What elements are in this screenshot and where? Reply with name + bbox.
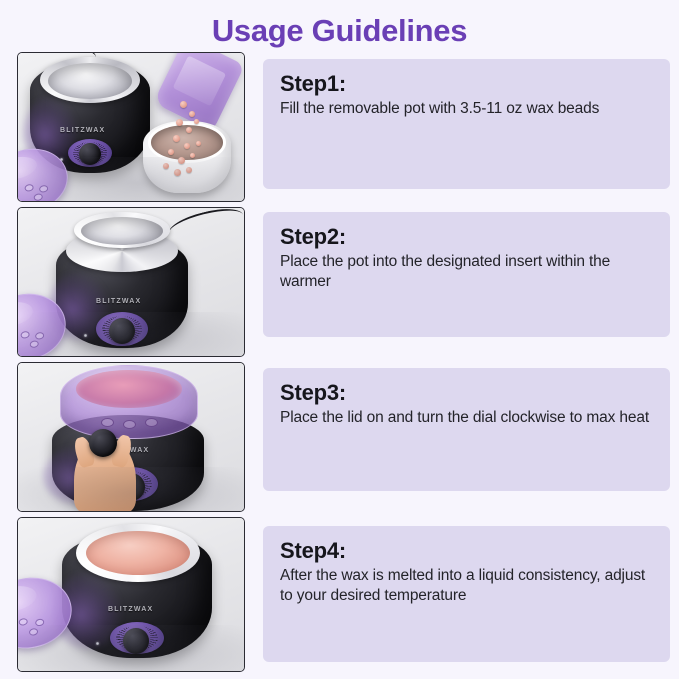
lid-vent-hole [29,340,39,349]
stainless-pot-inner [48,63,132,99]
photo-scene: BLITZWAX [18,208,244,356]
step-photo-1: BLITZWAX [17,52,245,202]
warmer-lid-closed [60,365,198,439]
temperature-dial-knob[interactable] [79,143,101,165]
wax-through-lid [76,370,182,407]
photo-scene: BLITZWAX [18,518,244,671]
step-row-3: BLITZWAX Step3: Plac [0,362,679,517]
step-title-4: Step4: [280,536,654,565]
wax-bead [163,163,169,169]
wax-bead [184,143,190,149]
step-description-2: Place the pot into the designated insert… [280,252,654,292]
power-indicator-led [96,642,99,645]
wax-bead [178,157,185,164]
step-box-2: Step2: Place the pot into the designated… [263,212,670,337]
wax-bead [168,149,174,155]
step-title-2: Step2: [280,222,654,251]
step-photo-3: BLITZWAX [17,362,245,512]
lid-vent-hole [101,418,114,427]
step-title-1: Step1: [280,69,654,98]
page-title: Usage Guidelines [0,11,679,51]
step-row-4: BLITZWAX Step4: After the w [0,517,679,677]
lid-vent-hole [35,618,45,627]
brand-label-4: BLITZWAX [108,606,153,613]
photo-scene: BLITZWAX [18,363,244,511]
wax-bead [174,169,181,176]
temperature-dial-plate[interactable] [104,467,158,501]
removable-pot-inner [81,217,163,245]
temperature-dial-knob[interactable] [123,628,149,654]
lid-vent-hole [35,331,45,340]
step-title-3: Step3: [280,378,654,407]
lid-sheen [17,153,39,182]
lid-vent-hole [33,193,43,202]
wax-bead [173,135,180,142]
step-photo-4: BLITZWAX [17,517,245,672]
brand-label-1: BLITZWAX [60,127,105,134]
lid-sheen [17,583,39,616]
wax-bead [186,127,192,133]
melted-wax [86,531,190,575]
step-row-2: BLITZWAX Step2 [0,207,679,362]
photo-scene: BLITZWAX [18,53,244,201]
step-box-3: Step3: Place the lid on and turn the dia… [263,368,670,491]
step-row-1: BLITZWAX [0,52,679,207]
power-cord-icon [166,207,245,245]
wax-bead [189,111,195,117]
temperature-dial-plate[interactable] [96,312,148,346]
lid-sheen [17,299,35,330]
step-description-3: Place the lid on and turn the dial clock… [280,408,654,428]
wax-bead [176,119,183,126]
wax-bead [180,101,187,108]
bag-label [172,56,226,106]
step-photo-2: BLITZWAX [17,207,245,357]
temperature-dial-plate[interactable] [110,622,164,654]
steps-list: BLITZWAX [0,52,679,677]
power-indicator-led [84,334,87,337]
step-description-1: Fill the removable pot with 3.5-11 oz wa… [280,99,654,119]
step-box-1: Step1: Fill the removable pot with 3.5-1… [263,59,670,189]
step-description-4: After the wax is melted into a liquid co… [280,566,654,606]
lid-vent-hole [20,330,30,339]
wax-bead [190,153,195,158]
lid-vent-hole [24,183,34,192]
lid-vent-hole [18,618,28,627]
power-indicator-led [60,158,63,161]
wax-bead [194,119,199,124]
temperature-dial-knob[interactable] [109,318,135,344]
wax-bead [186,167,192,173]
lid-vent-hole [39,184,49,193]
temperature-dial-knob[interactable] [117,473,145,501]
step-box-4: Step4: After the wax is melted into a li… [263,526,670,662]
temperature-dial-knob-front[interactable] [89,429,117,457]
lid-vent-hole [28,628,38,637]
lid-vent-hole [145,418,158,427]
wax-bead [196,141,201,146]
wax-bead-bag [153,52,245,132]
brand-label-2: BLITZWAX [96,298,141,305]
lid-vent-hole [123,420,136,429]
